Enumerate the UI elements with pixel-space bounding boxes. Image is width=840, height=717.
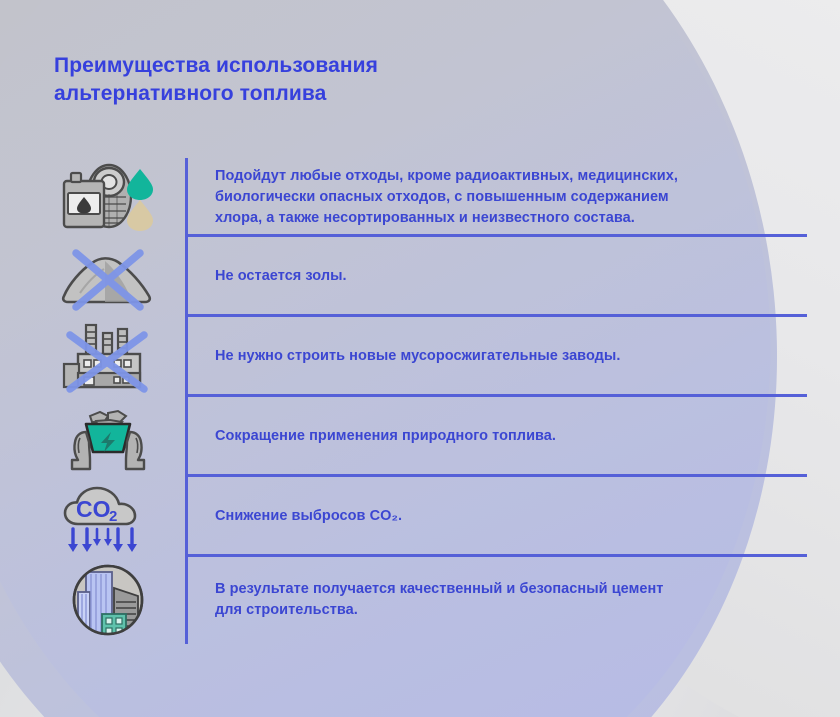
list-item: Не остается золы. <box>0 237 840 317</box>
list-item: В результате получается качественный и б… <box>0 557 840 643</box>
svg-text:CO: CO <box>76 496 111 522</box>
list-item: Сокращение применения природного топлива… <box>0 397 840 477</box>
benefits-list: Подойдут любые отходы, кроме радиоактивн… <box>0 158 840 643</box>
co2-cloud-down-arrows-icon: CO 2 <box>52 479 164 555</box>
ash-pile-crossed-out-icon <box>52 239 164 315</box>
list-item-text: Не остается золы. <box>215 266 795 287</box>
incineration-plant-crossed-out-icon <box>52 319 164 395</box>
page-title: Преимущества использования альтернативно… <box>54 52 594 107</box>
list-item: Подойдут любые отходы, кроме радиоактивн… <box>0 158 840 237</box>
list-item-text: Подойдут любые отходы, кроме радиоактивн… <box>215 166 795 229</box>
list-item-text: В результате получается качественный и б… <box>215 579 795 621</box>
fuel-canister-tire-droplets-icon <box>52 160 164 236</box>
slide-canvas: Преимущества использования альтернативно… <box>0 0 840 717</box>
list-item-text: Снижение выбросов CO₂. <box>215 506 795 527</box>
city-buildings-circle-icon <box>52 562 164 638</box>
hands-holding-energy-basket-icon <box>52 399 164 475</box>
list-item: Не нужно строить новые мусоросжигательны… <box>0 317 840 397</box>
list-item: CO 2 <box>0 477 840 557</box>
list-item-text: Сокращение применения природного топлива… <box>215 426 795 447</box>
slide-content: Преимущества использования альтернативно… <box>0 0 840 717</box>
svg-text:2: 2 <box>109 508 117 525</box>
list-item-text: Не нужно строить новые мусоросжигательны… <box>215 346 795 367</box>
